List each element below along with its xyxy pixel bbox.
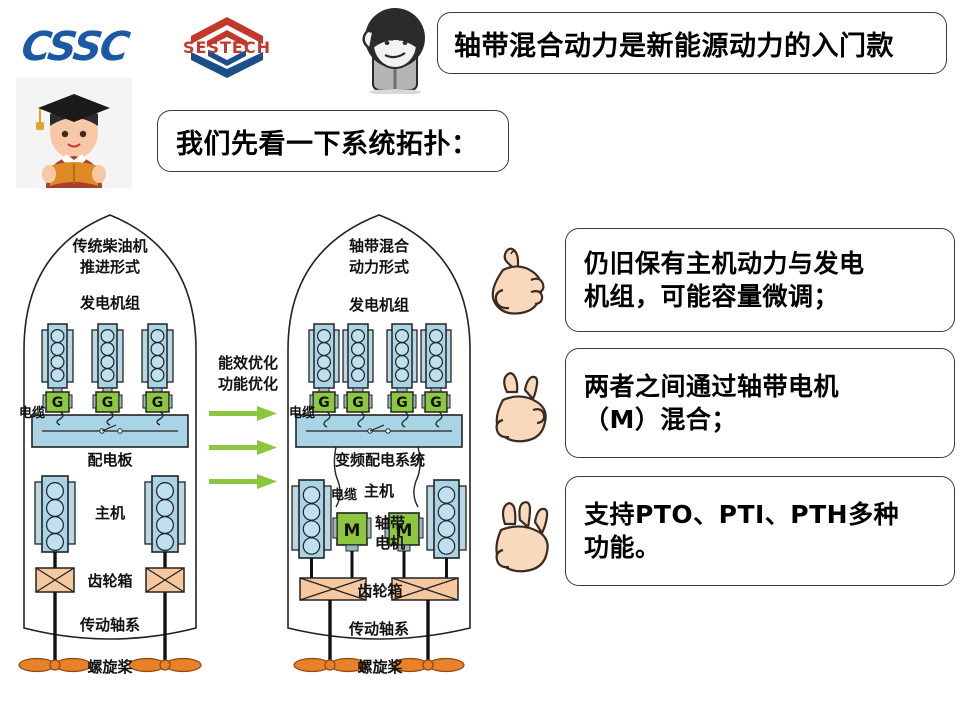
intro-callout: 我们先看一下系统拓扑：: [157, 110, 509, 172]
svg-text:M: M: [344, 521, 361, 541]
one-finger-hand-icon: [487, 236, 557, 328]
left-ship-diagram: G G: [10, 210, 210, 680]
right-ship-genset-label: 发电机组: [329, 294, 429, 315]
left-ship-gearbox-label: 齿轮箱: [72, 570, 148, 591]
left-ship-title-line-1: 传统柴油机: [60, 235, 160, 256]
left-ship-title-line-2: 推进形式: [60, 256, 160, 277]
right-ship-switchboard-label: 变频配电系统: [322, 449, 438, 470]
right-ship-shafting-label: 传动轴系: [329, 618, 429, 639]
right-ship-title-line-1: 轴带混合: [329, 235, 429, 256]
sestech-logo: SESTECH: [175, 14, 279, 80]
meme-character-avatar: [345, 2, 445, 94]
point-3-line-2: 功能。: [584, 531, 661, 564]
point-3-line-1: 支持PTO、PTI、PTH多种: [584, 498, 899, 531]
point-2-line-2: （M）混合；: [584, 403, 737, 436]
two-finger-hand-icon: [489, 362, 559, 454]
title-text: 轴带混合动力是新能源动力的入门款: [454, 24, 894, 63]
left-ship-switchboard-label: 配电板: [60, 449, 160, 470]
left-ship-cable-label: 电缆: [10, 402, 54, 421]
right-ship-svg: G G: [272, 210, 487, 680]
title-callout: 轴带混合动力是新能源动力的入门款: [437, 12, 947, 74]
left-ship-propeller-label: 螺旋桨: [72, 656, 148, 677]
left-ship-svg: G G: [10, 210, 210, 680]
three-finger-hand-icon: [489, 492, 559, 584]
left-ship-shafting-label: 传动轴系: [60, 614, 160, 635]
svg-text:G: G: [102, 395, 114, 411]
point-1-line-1: 仍旧保有主机动力与发电: [584, 247, 865, 280]
intro-text: 我们先看一下系统拓扑：: [176, 122, 479, 161]
left-ship-genset-label: 发电机组: [60, 292, 160, 313]
right-ship-main-engine-label: 主机: [354, 480, 404, 501]
point-1-line-2: 机组，可能容量微调；: [584, 280, 839, 313]
svg-text:G: G: [430, 395, 442, 411]
svg-text:G: G: [352, 395, 364, 411]
cssc-logo-text: CSSC: [19, 24, 165, 70]
right-ship-cable-label: 电缆: [280, 402, 324, 421]
right-ship-motor-label-line-2: 电机: [368, 532, 412, 553]
point-3-callout: 支持PTO、PTI、PTH多种 功能。: [565, 476, 955, 586]
sestech-logo-text: SESTECH: [175, 38, 279, 57]
right-ship-gearbox-label: 齿轮箱: [342, 580, 418, 601]
right-ship-motor-label-line-1: 轴带: [368, 512, 412, 533]
point-2-callout: 两者之间通过轴带电机 （M）混合；: [565, 348, 955, 458]
cssc-logo: CSSC: [22, 24, 162, 70]
right-ship-diagram: G G: [272, 210, 487, 680]
svg-text:G: G: [152, 395, 164, 411]
point-2-line-1: 两者之间通过轴带电机: [584, 370, 839, 403]
svg-text:G: G: [396, 395, 408, 411]
graduate-student-avatar: [16, 78, 132, 188]
right-ship-propeller-label: 螺旋桨: [342, 656, 418, 677]
right-ship-title-line-2: 动力形式: [329, 256, 429, 277]
point-1-callout: 仍旧保有主机动力与发电 机组，可能容量微调；: [565, 228, 955, 332]
left-ship-main-engine-label: 主机: [80, 502, 140, 523]
